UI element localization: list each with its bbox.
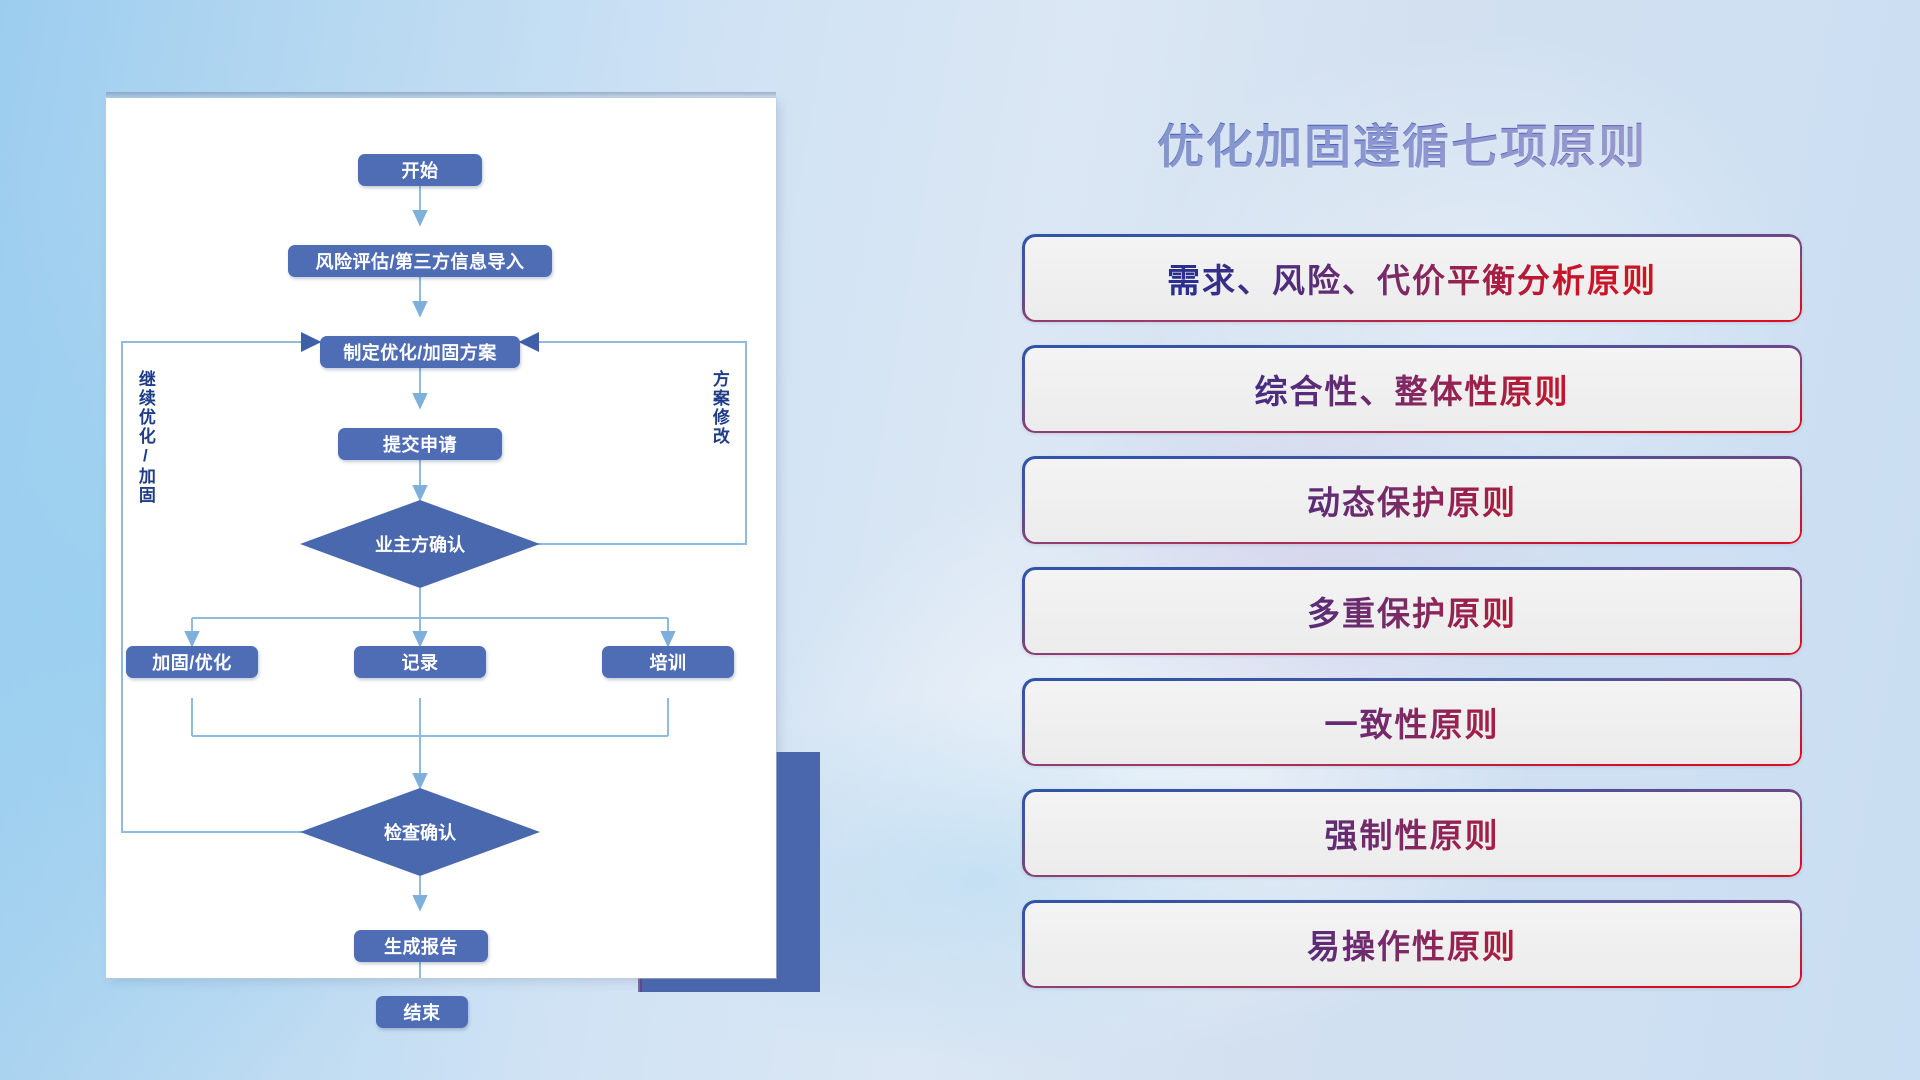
principle-card-6[interactable]: 强制性原则: [1022, 789, 1802, 877]
principle-card-4[interactable]: 多重保护原则: [1022, 567, 1802, 655]
principle-card-2[interactable]: 综合性、整体性原则: [1022, 345, 1802, 433]
flow-node-generate-report-label: 生成报告: [384, 933, 458, 959]
flow-node-start: 开始: [358, 154, 482, 186]
flow-node-reinforce: 加固/优化: [126, 646, 258, 678]
flow-node-inspect-confirm-label: 检查确认: [384, 819, 456, 845]
flow-node-generate-report: 生成报告: [354, 930, 488, 962]
flow-node-submit-application-label: 提交申请: [383, 431, 457, 457]
principle-card-5[interactable]: 一致性原则: [1022, 678, 1802, 766]
principle-card-3-label: 动态保护原则: [1022, 456, 1802, 544]
edge-label-plan-revision: 方案修改: [710, 370, 728, 446]
flow-node-inspect-confirm: 检查确认: [300, 788, 540, 876]
edge-label-continue-optimize: 继续优化/加固: [136, 370, 154, 505]
flow-node-start-label: 开始: [402, 157, 439, 183]
flow-node-reinforce-label: 加固/优化: [152, 649, 232, 675]
principles-panel-title: 优化加固遵循七项原则: [1022, 108, 1782, 177]
flow-node-owner-confirm: 业主方确认: [300, 500, 540, 588]
flow-node-plan-label: 制定优化/加固方案: [343, 339, 497, 365]
principle-card-7[interactable]: 易操作性原则: [1022, 900, 1802, 988]
flow-node-end-label: 结束: [404, 999, 441, 1025]
flow-node-plan: 制定优化/加固方案: [320, 336, 520, 368]
principle-card-1[interactable]: 需求、风险、代价平衡分析原则: [1022, 234, 1802, 322]
principle-card-4-label: 多重保护原则: [1022, 567, 1802, 655]
flow-node-training: 培训: [602, 646, 734, 678]
flow-node-record-label: 记录: [402, 649, 439, 675]
flow-node-risk-assessment-label: 风险评估/第三方信息导入: [316, 248, 525, 274]
principle-card-3[interactable]: 动态保护原则: [1022, 456, 1802, 544]
flow-node-submit-application: 提交申请: [338, 428, 502, 460]
flow-node-training-label: 培训: [650, 649, 687, 675]
flowchart-card: 开始 风险评估/第三方信息导入 制定优化/加固方案 提交申请 业主方确认 加固/…: [106, 98, 776, 978]
principle-card-6-label: 强制性原则: [1022, 789, 1802, 877]
flow-node-risk-assessment: 风险评估/第三方信息导入: [288, 245, 552, 277]
principle-card-2-label: 综合性、整体性原则: [1022, 345, 1802, 433]
flow-node-owner-confirm-label: 业主方确认: [375, 531, 465, 557]
flow-node-record: 记录: [354, 646, 486, 678]
flow-node-end: 结束: [376, 996, 468, 1028]
principle-card-5-label: 一致性原则: [1022, 678, 1802, 766]
principle-card-7-label: 易操作性原则: [1022, 900, 1802, 988]
principle-card-1-label: 需求、风险、代价平衡分析原则: [1022, 234, 1802, 322]
